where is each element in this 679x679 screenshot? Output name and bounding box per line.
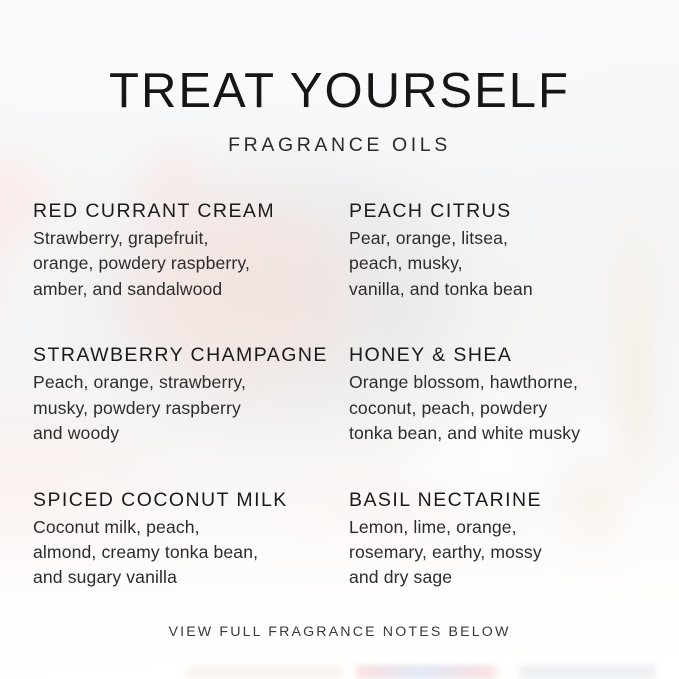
fragrance-column-right: PEACH CITRUS Pear, orange, litsea, peach… <box>343 200 653 611</box>
fragrance-oils-poster: TREAT YOURSELF FRAGRANCE OILS RED CURRAN… <box>0 0 679 679</box>
fragrance-name: PEACH CITRUS <box>349 200 653 223</box>
fragrance-name: RED CURRANT CREAM <box>33 200 343 223</box>
fragrance-name: HONEY & SHEA <box>349 344 653 367</box>
fragrance-item[interactable]: SPICED COCONUT MILK Coconut milk, peach,… <box>33 489 343 591</box>
fragrance-notes: Strawberry, grapefruit, orange, powdery … <box>33 226 343 302</box>
fragrance-notes: Pear, orange, litsea, peach, musky, vani… <box>349 226 653 302</box>
poster-footer: VIEW FULL FRAGRANCE NOTES BELOW <box>0 624 679 640</box>
fragrance-notes: Peach, orange, strawberry, musky, powder… <box>33 370 343 446</box>
page-title: TREAT YOURSELF <box>0 66 679 117</box>
poster-content: TREAT YOURSELF FRAGRANCE OILS RED CURRAN… <box>0 0 679 679</box>
fragrance-notes: Coconut milk, peach, almond, creamy tonk… <box>33 515 343 591</box>
fragrance-item[interactable]: PEACH CITRUS Pear, orange, litsea, peach… <box>349 200 653 302</box>
view-full-notes-cta[interactable]: VIEW FULL FRAGRANCE NOTES BELOW <box>0 624 679 640</box>
fragrance-item[interactable]: RED CURRANT CREAM Strawberry, grapefruit… <box>33 200 343 302</box>
fragrance-name: STRAWBERRY CHAMPAGNE <box>33 344 343 367</box>
poster-header: TREAT YOURSELF FRAGRANCE OILS <box>0 66 679 157</box>
fragrance-item[interactable]: HONEY & SHEA Orange blossom, hawthorne, … <box>349 344 653 446</box>
fragrance-item[interactable]: BASIL NECTARINE Lemon, lime, orange, ros… <box>349 489 653 591</box>
fragrance-item[interactable]: STRAWBERRY CHAMPAGNE Peach, orange, stra… <box>33 344 343 446</box>
fragrance-notes: Lemon, lime, orange, rosemary, earthy, m… <box>349 515 653 591</box>
fragrance-name: SPICED COCONUT MILK <box>33 489 343 512</box>
fragrance-name: BASIL NECTARINE <box>349 489 653 512</box>
fragrance-notes: Orange blossom, hawthorne, coconut, peac… <box>349 370 653 446</box>
fragrance-column-left: RED CURRANT CREAM Strawberry, grapefruit… <box>33 200 343 611</box>
fragrance-list: RED CURRANT CREAM Strawberry, grapefruit… <box>33 200 653 611</box>
page-subtitle: FRAGRANCE OILS <box>0 134 679 157</box>
